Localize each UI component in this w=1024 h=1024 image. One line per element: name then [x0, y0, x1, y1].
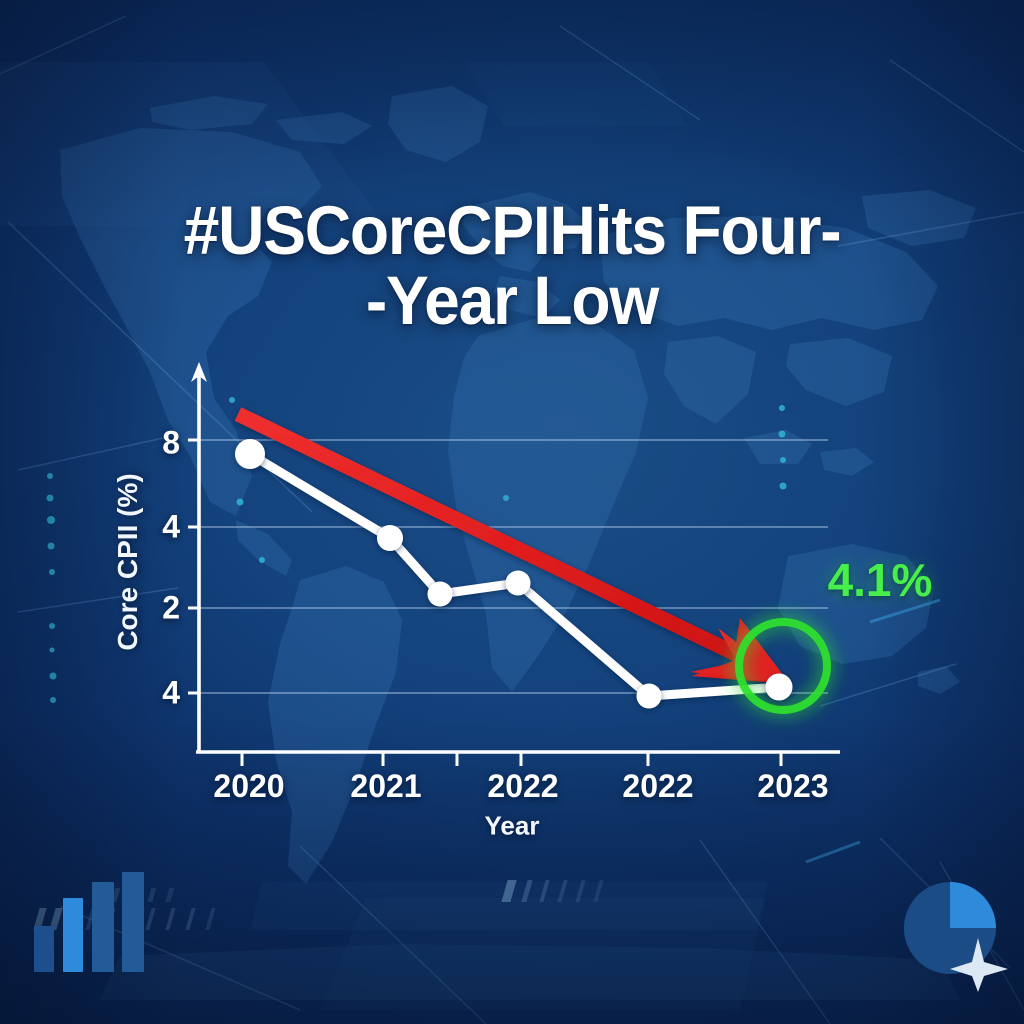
- x-tick-label: 2020: [213, 768, 284, 805]
- data-point-marker: [377, 525, 403, 551]
- decor-bar: [34, 926, 54, 972]
- y-tick-label: 8: [162, 425, 180, 462]
- x-tick-label: 2023: [757, 768, 828, 805]
- trend-arrow: [238, 414, 790, 684]
- y-tick-label: 2: [162, 590, 180, 627]
- x-tick-label: 2022: [622, 768, 693, 805]
- data-point-marker-final: [766, 674, 793, 701]
- y-tick-label: 4: [162, 675, 180, 712]
- x-tick-label: 2021: [350, 768, 421, 805]
- y-axis-title: Core CPII (%): [112, 473, 144, 650]
- chart-canvas: [0, 0, 1024, 1024]
- decor-bar: [63, 898, 83, 972]
- decor-bar: [122, 872, 144, 972]
- decor-bar: [92, 882, 114, 972]
- data-point-marker: [428, 582, 453, 607]
- y-tick-label: 4: [162, 509, 180, 546]
- value-callout: 4.1%: [828, 553, 933, 607]
- data-point-marker: [506, 571, 531, 596]
- bar-chart-decoration: [34, 872, 146, 972]
- pie-chart-decoration: [896, 876, 1012, 992]
- data-point-marker: [637, 684, 662, 709]
- x-tick-label: 2022: [487, 768, 558, 805]
- data-point-marker: [235, 439, 265, 469]
- line-chart: Core CPII (%) Year 8 4 2 4 2020 2021 202…: [0, 0, 1024, 1024]
- infographic-canvas: #USCoreCPIHits Four- -Year Low: [0, 0, 1024, 1024]
- x-tick-marks: [242, 752, 781, 766]
- x-axis-title: Year: [485, 811, 540, 842]
